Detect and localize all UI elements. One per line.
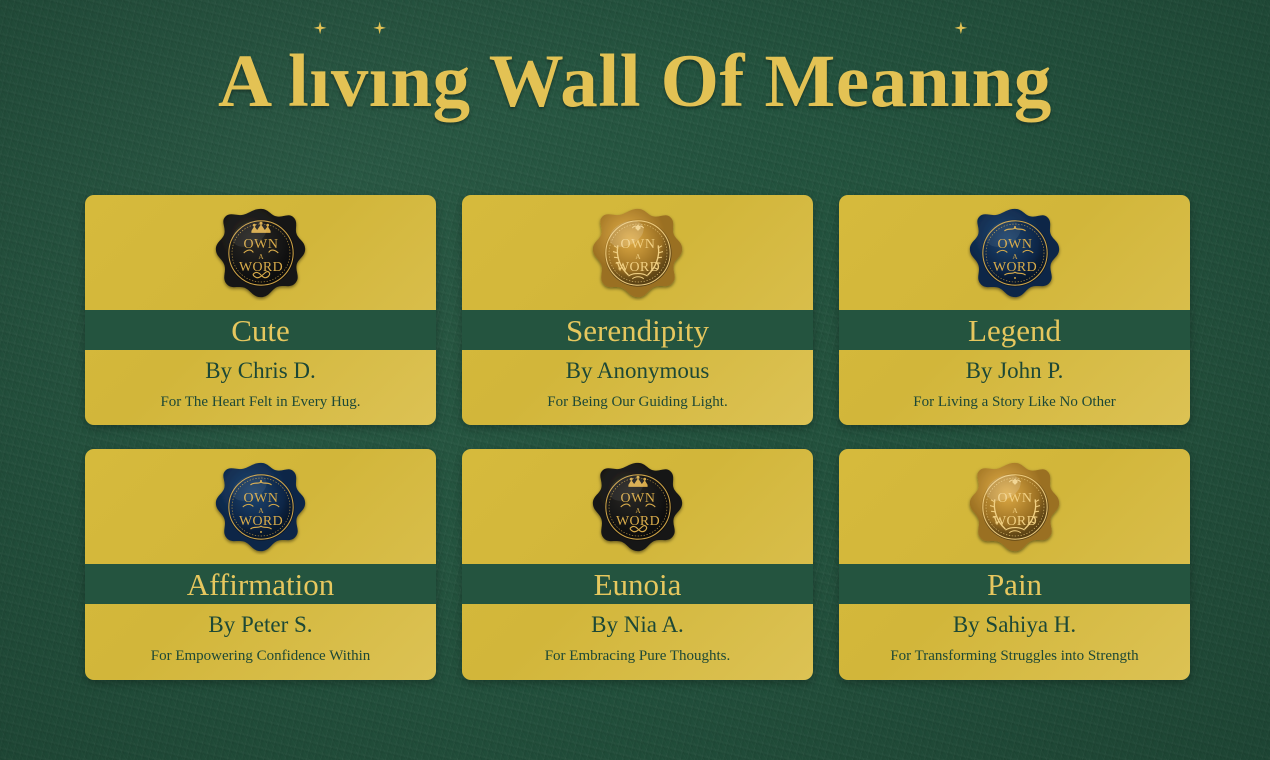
card-word-band: Eunoia xyxy=(462,564,813,604)
card-seal-area: OWNAWORD xyxy=(839,195,1190,310)
own-a-word-seal-icon: OWNAWORD xyxy=(967,459,1063,555)
word-card[interactable]: OWNAWORDAffirmationBy Peter S.For Empowe… xyxy=(85,449,436,679)
card-reason: For Transforming Struggles into Strength xyxy=(849,647,1180,667)
word-card[interactable]: OWNAWORDSerendipityBy AnonymousFor Being… xyxy=(462,195,813,425)
svg-text:WORD: WORD xyxy=(615,514,659,529)
card-owner: By Anonymous xyxy=(472,357,803,386)
title-sparkle-icon: ı xyxy=(950,44,971,119)
card-owner: By Peter S. xyxy=(95,611,426,640)
card-reason: For Empowering Confidence Within xyxy=(95,647,426,667)
card-word-band: Serendipity xyxy=(462,310,813,350)
card-word: Affirmation xyxy=(187,569,335,600)
card-meta: By Chris D.For The Heart Felt in Every H… xyxy=(85,350,436,425)
word-wall-grid: OWNAWORDCuteBy Chris D.For The Heart Fel… xyxy=(85,195,1185,680)
card-word: Serendipity xyxy=(566,315,709,346)
card-owner: By Sahiya H. xyxy=(849,611,1180,640)
card-seal-area: OWNAWORD xyxy=(462,195,813,310)
title-sparkle-icon: ı xyxy=(309,44,330,119)
card-word-band: Legend xyxy=(839,310,1190,350)
card-seal-area: OWNAWORD xyxy=(85,195,436,310)
svg-text:WORD: WORD xyxy=(992,259,1036,274)
svg-text:WORD: WORD xyxy=(238,259,282,274)
card-reason: For Embracing Pure Thoughts. xyxy=(472,647,803,667)
card-seal-area: OWNAWORD xyxy=(839,449,1190,564)
word-card[interactable]: OWNAWORDPainBy Sahiya H.For Transforming… xyxy=(839,449,1190,679)
own-a-word-seal-icon: OWNAWORD xyxy=(213,205,309,301)
card-meta: By Peter S.For Empowering Confidence Wit… xyxy=(85,604,436,679)
card-seal-area: OWNAWORD xyxy=(85,449,436,564)
card-word: Eunoia xyxy=(594,569,682,600)
word-card[interactable]: OWNAWORDLegendBy John P.For Living a Sto… xyxy=(839,195,1190,425)
card-meta: By John P.For Living a Story Like No Oth… xyxy=(839,350,1190,425)
card-owner: By Nia A. xyxy=(472,611,803,640)
card-word: Cute xyxy=(231,315,290,346)
card-word-band: Affirmation xyxy=(85,564,436,604)
word-card[interactable]: OWNAWORDEunoiaBy Nia A.For Embracing Pur… xyxy=(462,449,813,679)
svg-text:WORD: WORD xyxy=(238,514,282,529)
card-seal-area: OWNAWORD xyxy=(462,449,813,564)
card-owner: By John P. xyxy=(849,357,1180,386)
word-card[interactable]: OWNAWORDCuteBy Chris D.For The Heart Fel… xyxy=(85,195,436,425)
svg-text:WORD: WORD xyxy=(992,514,1036,529)
card-word: Pain xyxy=(987,569,1042,600)
card-meta: By Nia A.For Embracing Pure Thoughts. xyxy=(462,604,813,679)
card-reason: For Living a Story Like No Other xyxy=(849,393,1180,413)
card-owner: By Chris D. xyxy=(95,357,426,386)
card-word-band: Cute xyxy=(85,310,436,350)
card-reason: For Being Our Guiding Light. xyxy=(472,393,803,413)
page-title: A lıvıng Wall Of Meanıng xyxy=(0,44,1270,119)
card-word-band: Pain xyxy=(839,564,1190,604)
card-meta: By AnonymousFor Being Our Guiding Light. xyxy=(462,350,813,425)
own-a-word-seal-icon: OWNAWORD xyxy=(590,459,686,555)
title-sparkle-icon: ı xyxy=(369,44,390,119)
card-meta: By Sahiya H.For Transforming Struggles i… xyxy=(839,604,1190,679)
card-reason: For The Heart Felt in Every Hug. xyxy=(95,393,426,413)
own-a-word-seal-icon: OWNAWORD xyxy=(590,205,686,301)
own-a-word-seal-icon: OWNAWORD xyxy=(967,205,1063,301)
svg-text:WORD: WORD xyxy=(615,259,659,274)
card-word: Legend xyxy=(968,315,1061,346)
own-a-word-seal-icon: OWNAWORD xyxy=(213,459,309,555)
